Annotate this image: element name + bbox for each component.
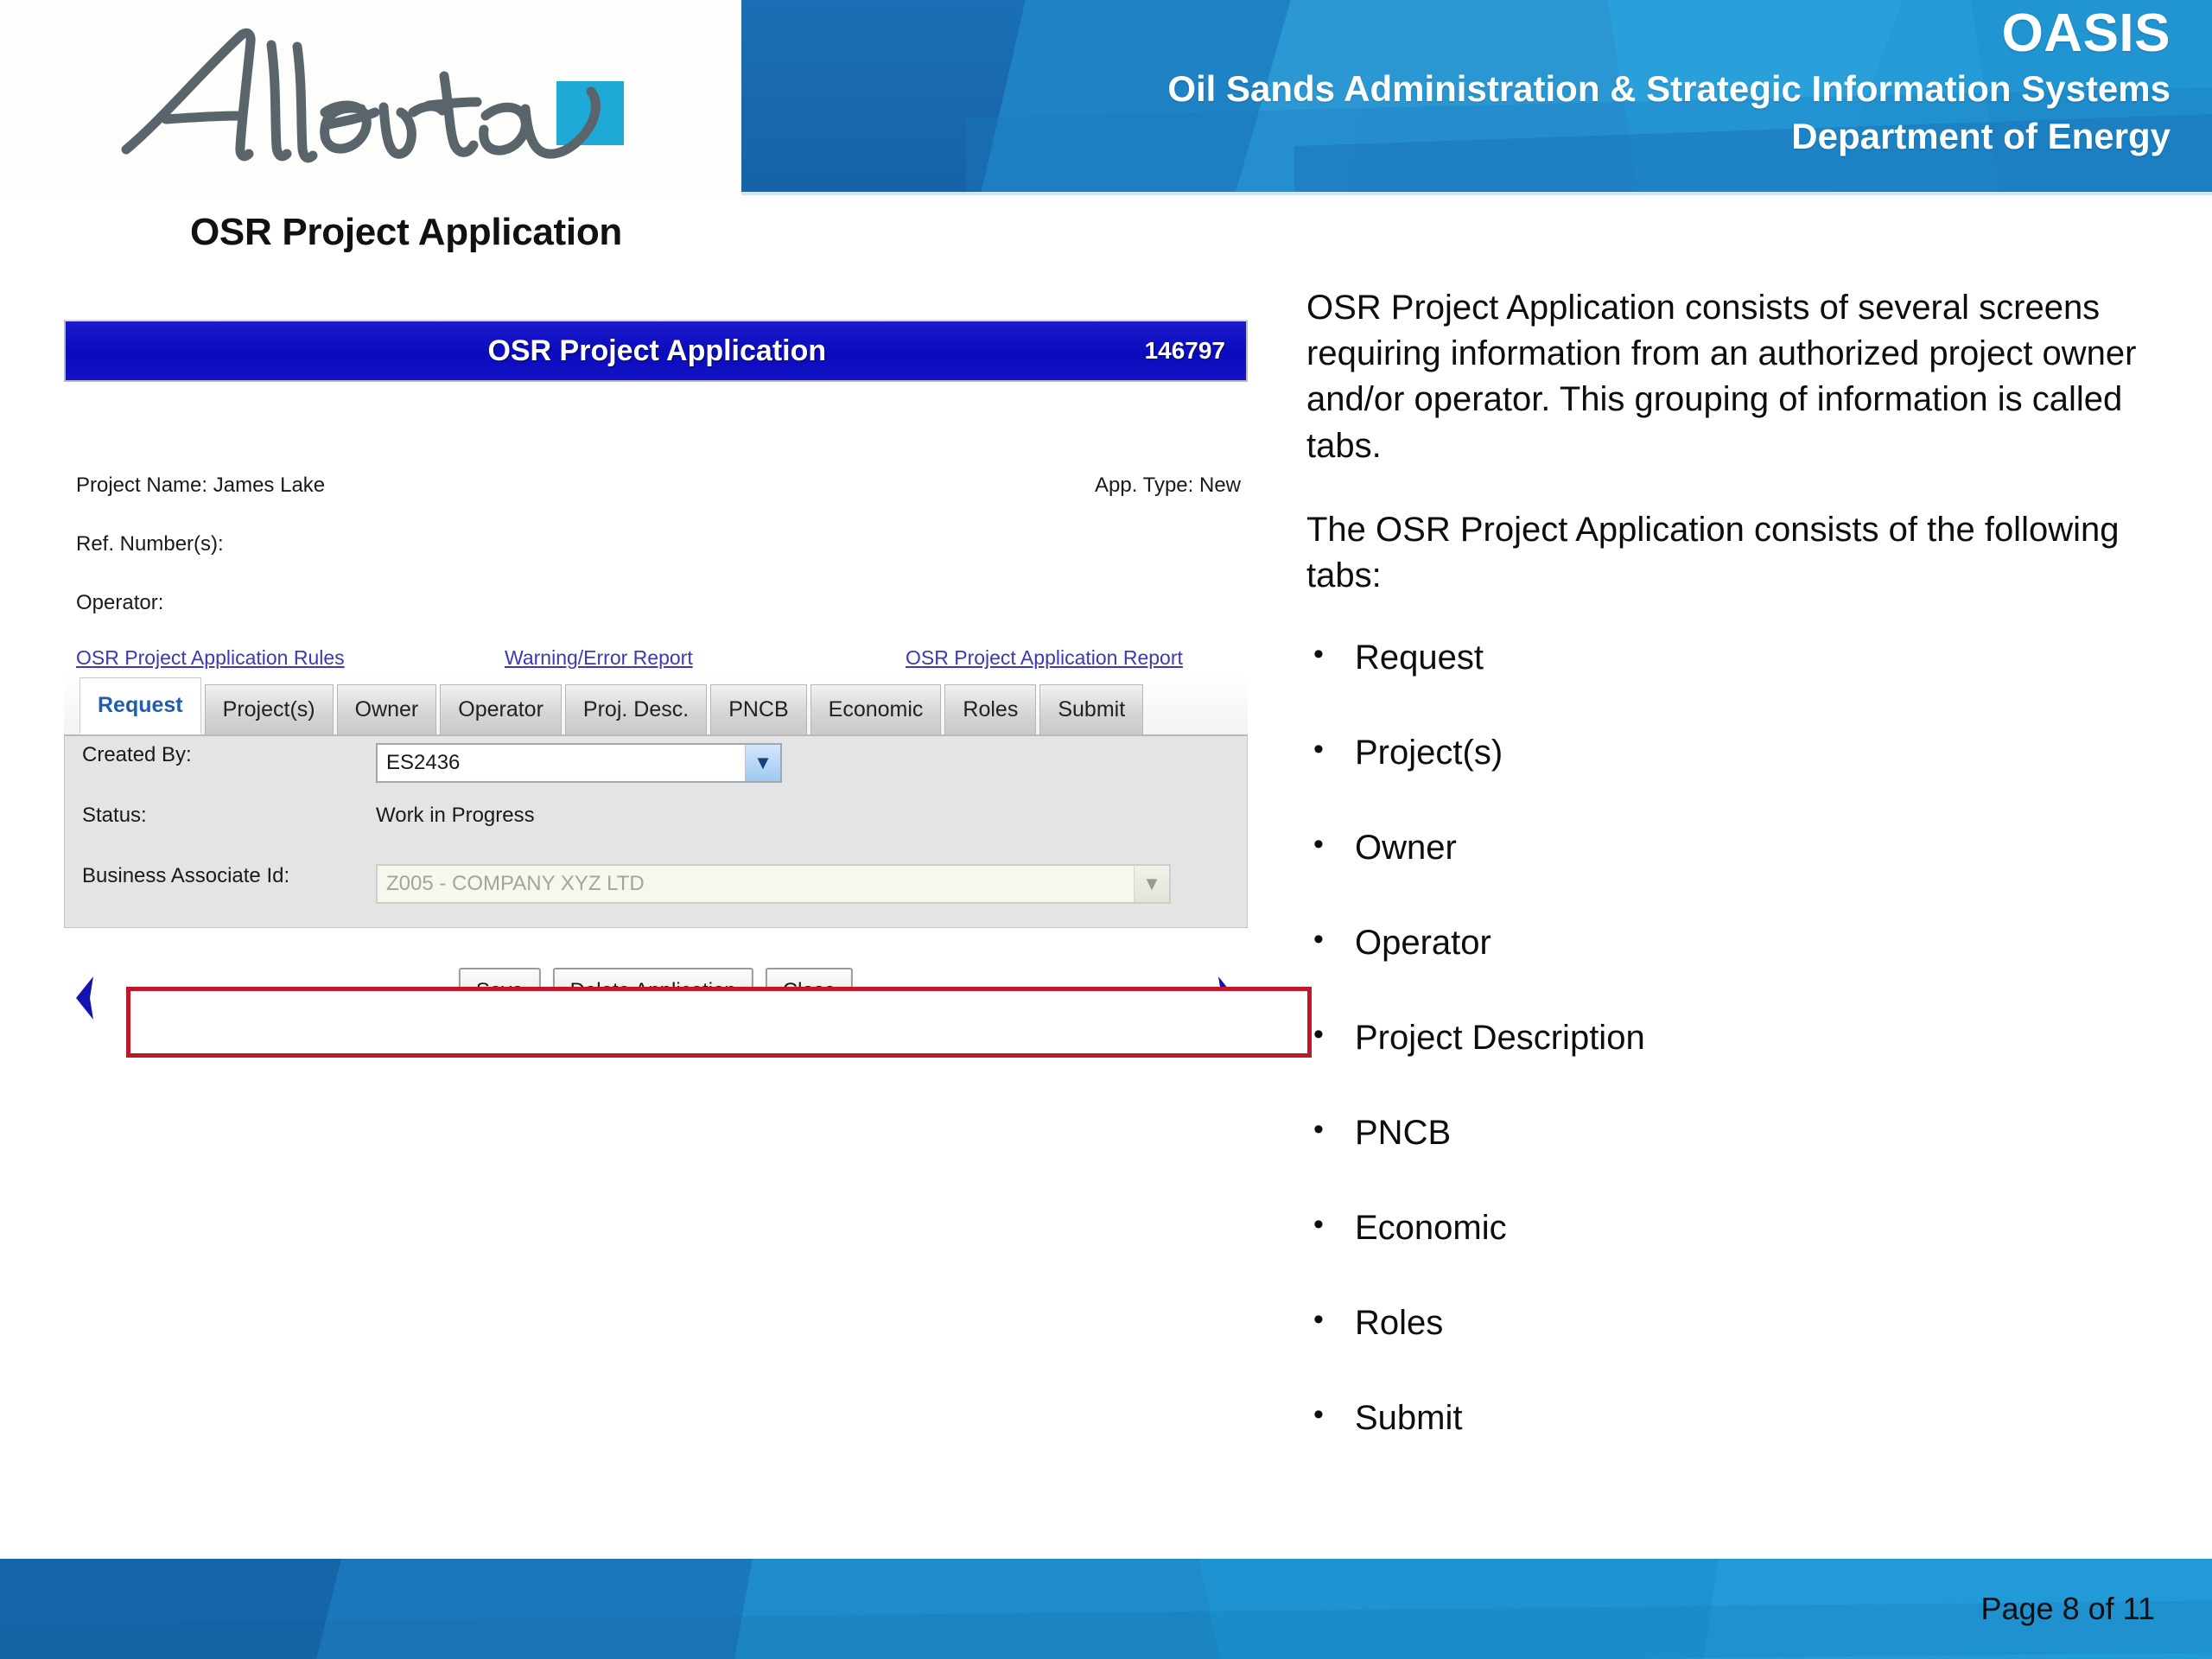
app-form-panel: Created By: ES2436 ▼ Status: Work in Pro…	[64, 736, 1248, 928]
tab-proj-desc[interactable]: Proj. Desc.	[565, 684, 707, 734]
chevron-down-icon: ▼	[745, 745, 780, 781]
link-osr-project-application-rules[interactable]: OSR Project Application Rules	[76, 646, 345, 670]
app-type-block: App. Type: New	[1095, 474, 1241, 498]
link-osr-project-application-report[interactable]: OSR Project Application Report	[906, 646, 1183, 670]
operator-row: Operator:	[76, 591, 1248, 615]
page-number: Page 8 of 11	[1981, 1591, 2156, 1627]
business-associate-select[interactable]: Z005 - COMPANY XYZ LTD ▼	[376, 864, 1171, 904]
bullet-icon: •	[1313, 922, 1324, 957]
app-button-bar: Save Delete Application Close	[64, 968, 1248, 1028]
bullet-icon: •	[1313, 637, 1324, 672]
bullet-icon: •	[1313, 732, 1324, 767]
list-item: •Project(s)	[1306, 732, 2179, 773]
app-links-row: OSR Project Application Rules Warning/Er…	[76, 646, 1248, 677]
created-by-label: Created By:	[82, 743, 192, 767]
bullet-icon: •	[1313, 1112, 1324, 1147]
triangle-right-icon[interactable]	[1210, 975, 1244, 1021]
app-type-label: App. Type:	[1095, 474, 1193, 497]
brand-subtitle-1: Oil Sands Administration & Strategic Inf…	[1167, 67, 2171, 112]
created-by-value: ES2436	[378, 751, 745, 775]
status-row: Status: Work in Progress	[65, 804, 1247, 855]
list-item-label: Owner	[1355, 829, 1457, 867]
list-item-label: Submit	[1355, 1399, 1463, 1437]
save-button[interactable]: Save	[459, 968, 541, 1014]
list-item-label: Request	[1355, 639, 1484, 677]
list-item-label: Project(s)	[1355, 734, 1503, 772]
status-label: Status:	[82, 804, 147, 828]
list-item-label: Operator	[1355, 924, 1491, 962]
page-footer: Page 8 of 11	[0, 1559, 2212, 1659]
tab-request[interactable]: Request	[79, 677, 201, 734]
app-screenshot: OSR Project Application 146797 Project N…	[64, 320, 1248, 1123]
paragraph-intro: OSR Project Application consists of seve…	[1306, 285, 2179, 469]
business-associate-row: Business Associate Id: Z005 - COMPANY XY…	[65, 864, 1247, 916]
list-item: •Request	[1306, 637, 2179, 678]
list-item-label: Economic	[1355, 1209, 1507, 1247]
business-associate-label: Business Associate Id:	[82, 864, 289, 888]
alberta-logo	[111, 16, 646, 180]
list-item: •Submit	[1306, 1397, 2179, 1439]
project-name-value: James Lake	[213, 474, 325, 497]
bullet-icon: •	[1313, 1207, 1324, 1243]
page-header: OASIS Oil Sands Administration & Strateg…	[0, 0, 2212, 195]
ref-numbers-label: Ref. Number(s):	[76, 532, 224, 556]
project-name-label: Project Name:	[76, 474, 207, 497]
business-associate-value: Z005 - COMPANY XYZ LTD	[378, 872, 1134, 896]
tab-roles[interactable]: Roles	[944, 684, 1036, 734]
tab-economic[interactable]: Economic	[810, 684, 942, 734]
bullet-icon: •	[1313, 1017, 1324, 1052]
app-id: 146797	[1145, 337, 1246, 365]
paragraph-tabs-lead: The OSR Project Application consists of …	[1306, 507, 2179, 599]
list-item-label: Roles	[1355, 1304, 1443, 1342]
bullet-icon: •	[1313, 827, 1324, 862]
app-titlebar-title: OSR Project Application	[66, 334, 1145, 368]
project-name-row: Project Name: James Lake App. Type: New	[76, 474, 1248, 498]
list-item-label: PNCB	[1355, 1114, 1451, 1152]
header-banner: OASIS Oil Sands Administration & Strateg…	[741, 0, 2212, 195]
tab-pncb[interactable]: PNCB	[710, 684, 806, 734]
ref-numbers-row: Ref. Number(s):	[76, 532, 1248, 556]
brand-title: OASIS	[1167, 5, 2171, 61]
list-item: •Owner	[1306, 827, 2179, 868]
list-item: •Project Description	[1306, 1017, 2179, 1058]
app-type-value: New	[1199, 474, 1241, 497]
page-title: OSR Project Application	[190, 211, 622, 254]
link-warning-error-report[interactable]: Warning/Error Report	[505, 646, 693, 670]
logo-zone	[0, 0, 741, 195]
list-item: •Roles	[1306, 1302, 2179, 1344]
created-by-row: Created By: ES2436 ▼	[65, 743, 1247, 795]
brand-subtitle-2: Department of Energy	[1167, 114, 2171, 160]
list-item: •Economic	[1306, 1207, 2179, 1249]
status-value: Work in Progress	[376, 804, 535, 828]
close-button[interactable]: Close	[766, 968, 853, 1014]
chevron-down-icon: ▼	[1134, 866, 1169, 902]
tabs-bullet-list: •Request •Project(s) •Owner •Operator •P…	[1306, 637, 2179, 1439]
list-item: •Operator	[1306, 922, 2179, 963]
triangle-left-icon[interactable]	[67, 975, 102, 1021]
content-column: OSR Project Application consists of seve…	[1306, 285, 2179, 1492]
list-item: •PNCB	[1306, 1112, 2179, 1154]
tab-submit[interactable]: Submit	[1039, 684, 1143, 734]
delete-application-button[interactable]: Delete Application	[553, 968, 753, 1014]
tab-projects[interactable]: Project(s)	[205, 684, 334, 734]
action-buttons: Save Delete Application Close	[459, 968, 853, 1014]
app-titlebar: OSR Project Application 146797	[64, 320, 1248, 382]
operator-label: Operator:	[76, 591, 163, 614]
tab-owner[interactable]: Owner	[337, 684, 437, 734]
app-tabstrip: Request Project(s) Owner Operator Proj. …	[64, 674, 1248, 736]
bullet-icon: •	[1313, 1302, 1324, 1338]
tab-operator[interactable]: Operator	[440, 684, 562, 734]
list-item-label: Project Description	[1355, 1019, 1645, 1057]
header-text-block: OASIS Oil Sands Administration & Strateg…	[1167, 5, 2171, 159]
bullet-icon: •	[1313, 1397, 1324, 1433]
header-underline	[741, 192, 2212, 195]
created-by-select[interactable]: ES2436 ▼	[376, 743, 782, 783]
